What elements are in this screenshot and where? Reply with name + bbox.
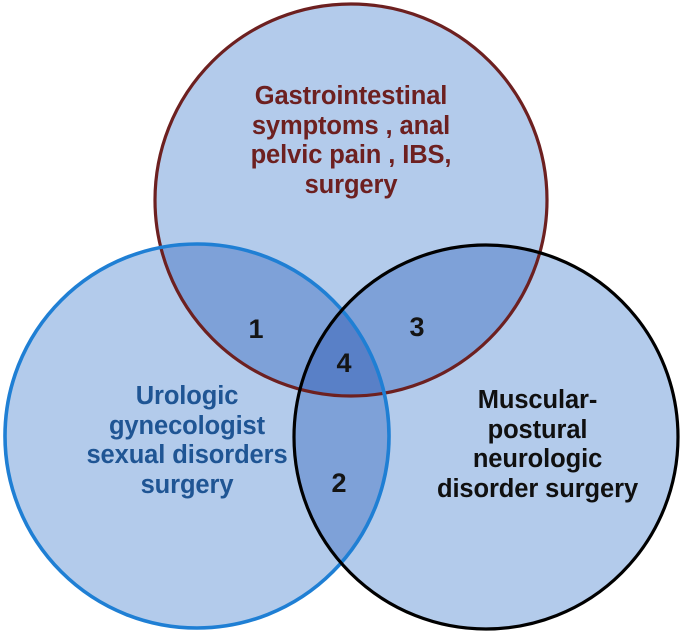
intersection-count-left-right: 2: [319, 468, 359, 499]
intersection-count-top-right: 3: [397, 312, 437, 343]
intersection-count-top-left: 1: [236, 314, 276, 345]
set-label-muscular: Muscular- postural neurologic disorder s…: [410, 386, 665, 504]
set-label-gastrointestinal: Gastrointestinal symptoms , anal pelvic …: [196, 82, 506, 200]
set-label-urologic: Urologic gynecologist sexual disorders s…: [42, 382, 332, 500]
venn-diagram: Gastrointestinal symptoms , anal pelvic …: [0, 0, 685, 642]
intersection-count-all-three: 4: [324, 348, 364, 379]
